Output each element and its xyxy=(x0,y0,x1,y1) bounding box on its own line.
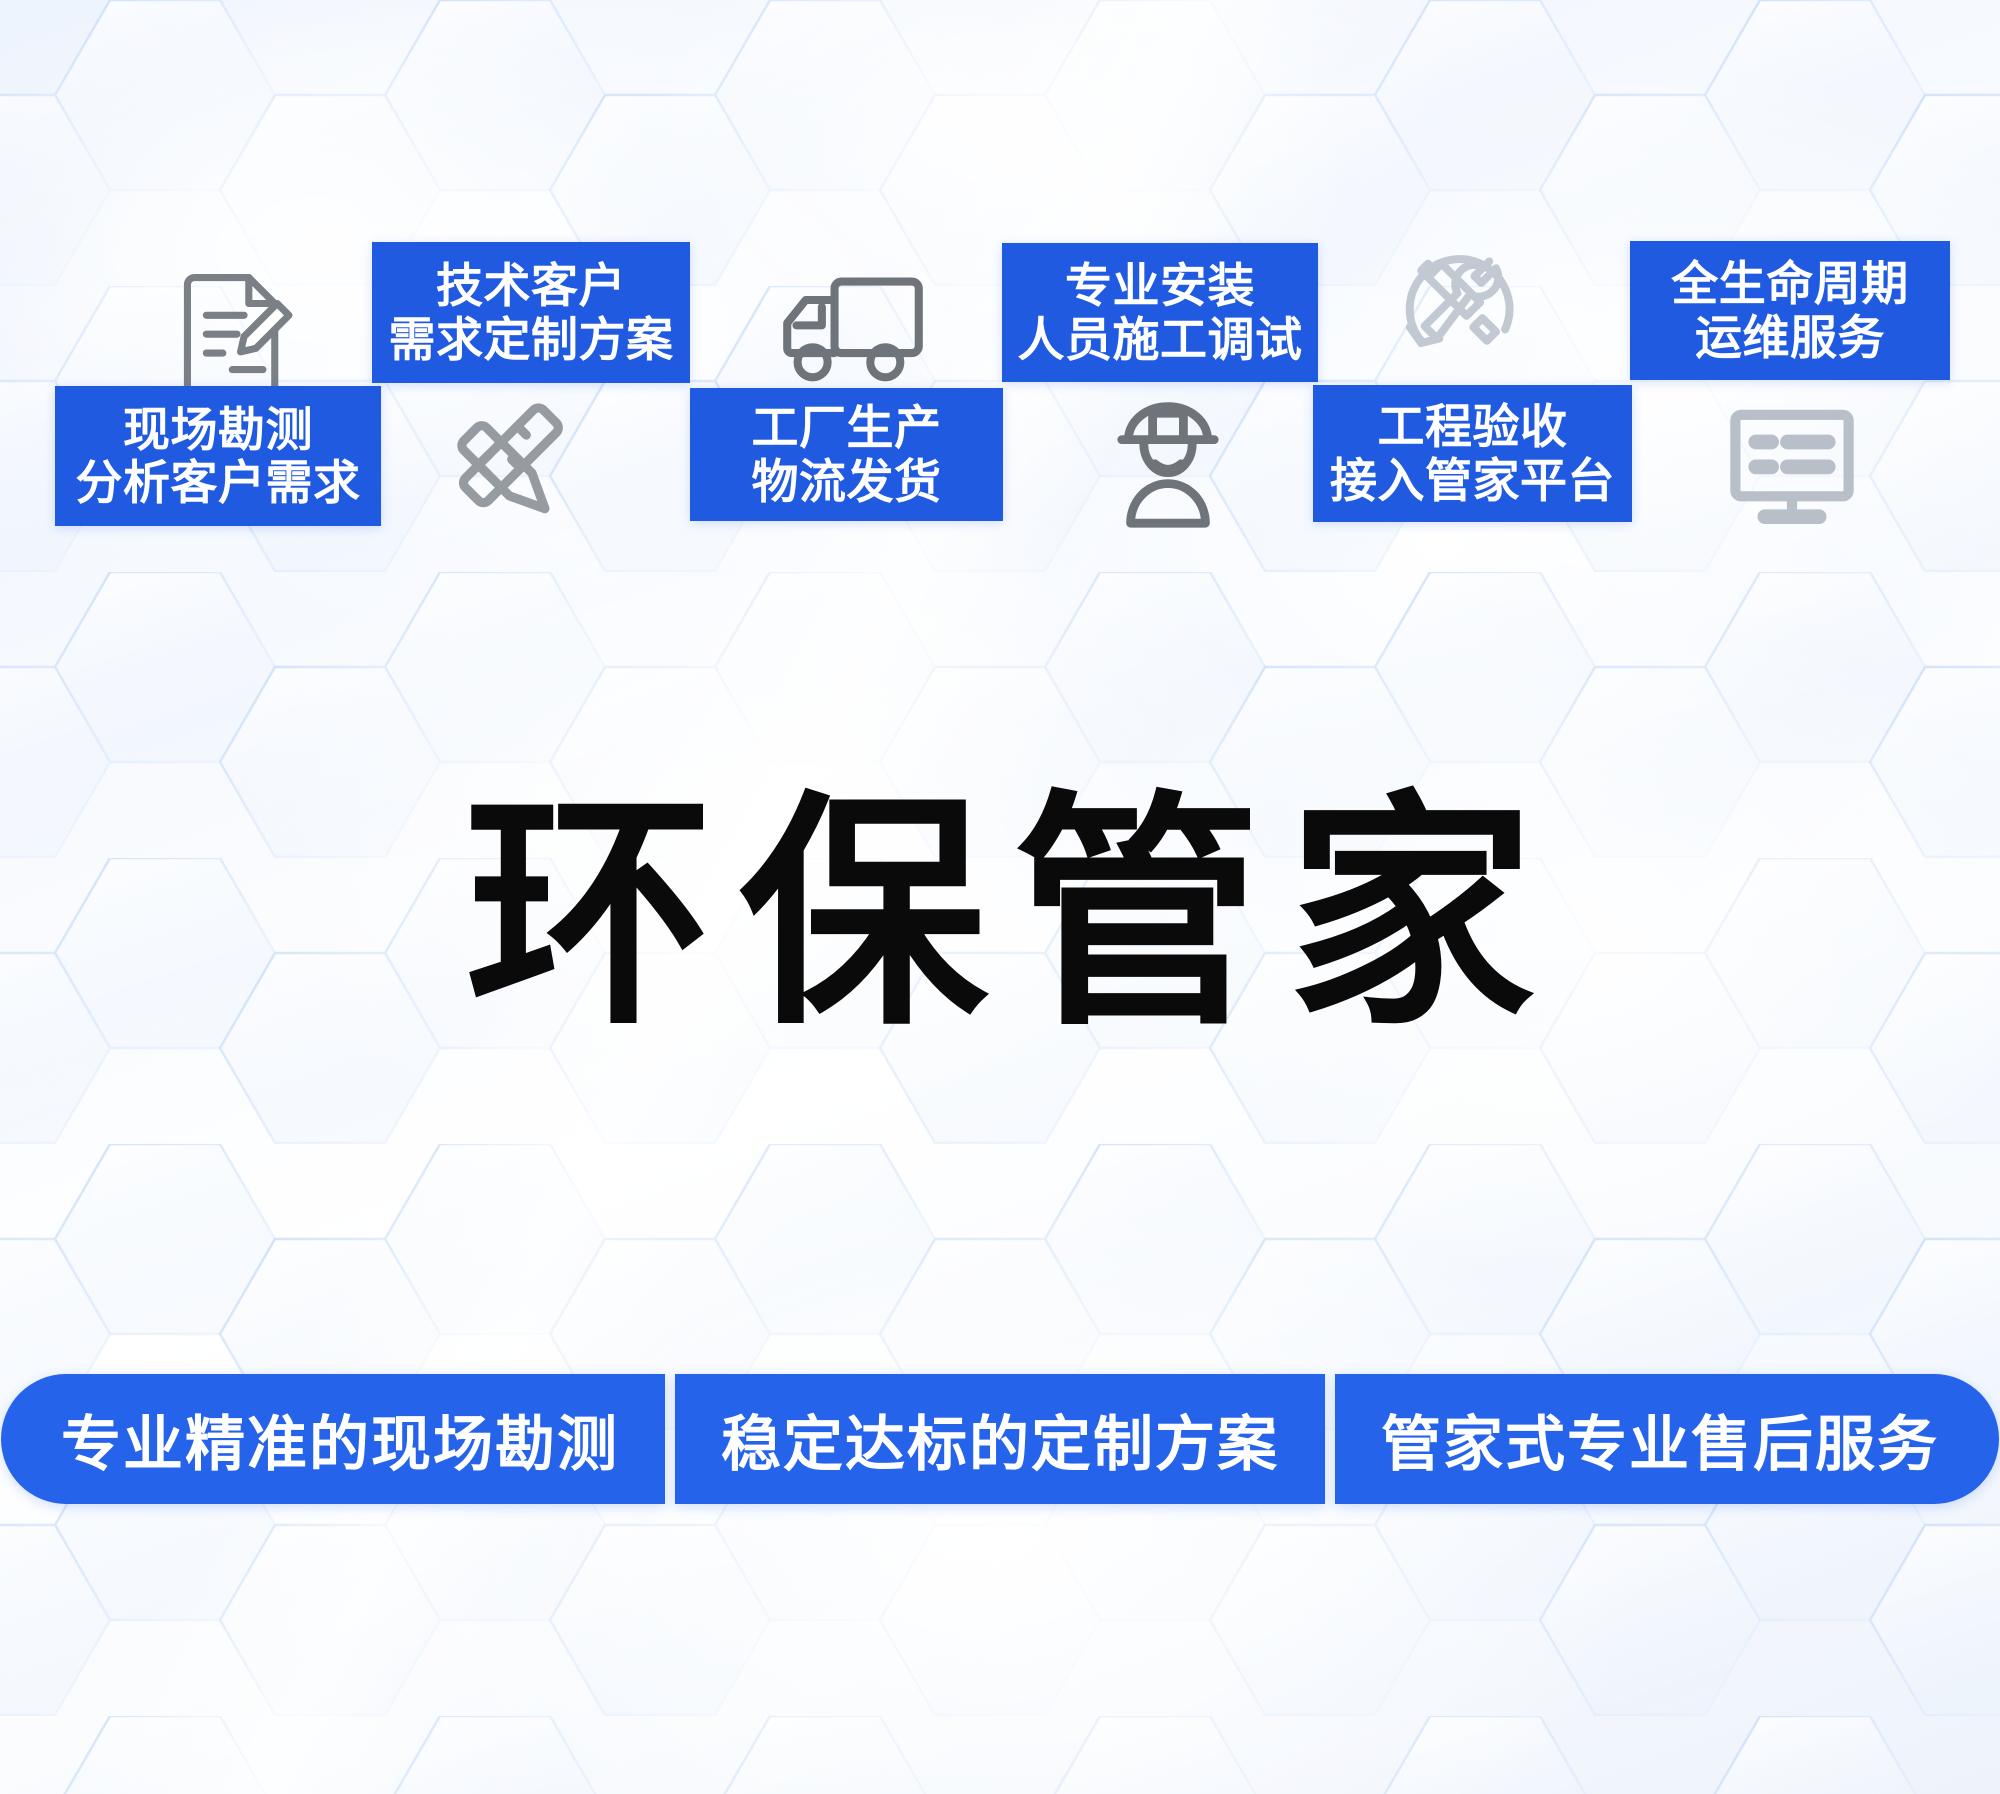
highlight-pill-survey[interactable]: 专业精准的现场勘测 xyxy=(1,1374,665,1504)
process-step-5-line1: 工程验收 xyxy=(1378,400,1568,453)
process-step-4-line1: 专业安装 xyxy=(1065,259,1255,312)
process-step-4-line2: 人员施工调试 xyxy=(1018,313,1303,366)
process-step-6-line2: 运维服务 xyxy=(1695,311,1885,364)
highlight-pill-service[interactable]: 管家式专业售后服务 xyxy=(1335,1374,1999,1504)
highlight-pill-solution[interactable]: 稳定达标的定制方案 xyxy=(675,1374,1325,1504)
process-step-3-line2: 物流发货 xyxy=(752,455,942,508)
process-step-6-line1: 全生命周期 xyxy=(1671,257,1909,310)
process-step-1-line2: 分析客户需求 xyxy=(76,456,361,509)
process-step-2-line1: 技术客户 xyxy=(436,259,626,312)
process-step-chip-1[interactable]: 现场勘测 分析客户需求 xyxy=(55,386,381,526)
monitor-dashboard-icon xyxy=(1724,408,1860,528)
process-step-1-line1: 现场勘测 xyxy=(123,403,313,456)
highlight-bar: 专业精准的现场勘测 稳定达标的定制方案 管家式专业售后服务 xyxy=(0,1374,2000,1504)
poster-canvas: 现场勘测 分析客户需求 技术客户 需求定制方案 xyxy=(0,0,2000,1794)
process-step-chip-6[interactable]: 全生命周期 运维服务 xyxy=(1630,241,1950,380)
pen-ruler-icon xyxy=(455,402,583,528)
process-step-chip-5[interactable]: 工程验收 接入管家平台 xyxy=(1313,385,1632,522)
document-edit-icon xyxy=(178,268,296,398)
process-step-chip-3[interactable]: 工厂生产 物流发货 xyxy=(690,388,1003,521)
worker-helmet-icon xyxy=(1113,402,1223,530)
process-step-chip-4[interactable]: 专业安装 人员施工调试 xyxy=(1002,243,1318,382)
wrench-screwdriver-icon xyxy=(1392,232,1532,368)
process-step-3-line1: 工厂生产 xyxy=(752,401,942,454)
page-title: 环保管家 xyxy=(0,790,2000,1038)
process-step-chip-2[interactable]: 技术客户 需求定制方案 xyxy=(372,242,690,383)
process-step-5-line2: 接入管家平台 xyxy=(1330,454,1615,507)
process-step-2-line2: 需求定制方案 xyxy=(389,313,674,366)
delivery-truck-icon xyxy=(778,272,928,388)
process-flow: 现场勘测 分析客户需求 技术客户 需求定制方案 xyxy=(0,0,2000,560)
